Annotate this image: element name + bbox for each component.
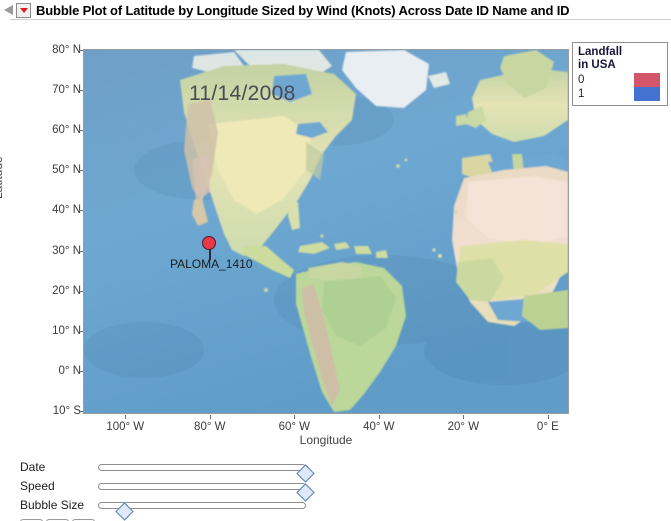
x-axis-tick-mark [294, 415, 295, 419]
marker-dot [202, 236, 216, 250]
x-axis-tick-mark [548, 415, 549, 419]
legend-swatch-0[interactable] [634, 73, 660, 87]
slider-bubble-size[interactable] [98, 502, 306, 509]
y-axis-tick-label: 0° N [23, 365, 81, 377]
x-axis-tick-label: 60° W [279, 421, 310, 433]
y-axis-tick-label: 10° N [23, 325, 81, 337]
y-axis-tick-label: 70° N [23, 84, 81, 96]
x-axis-tick-mark [463, 415, 464, 419]
bubble-plot-window: Bubble Plot of Latitude by Longitude Siz… [0, 0, 671, 521]
plot-area[interactable]: 11/14/2008 [83, 49, 569, 414]
slider-label: Speed [20, 479, 55, 493]
slider-label: Bubble Size [20, 498, 84, 512]
x-axis-tick-label: 80° W [194, 421, 225, 433]
x-axis-title: Longitude [83, 433, 569, 447]
legend-swatches [634, 73, 660, 101]
y-axis-tick-label: 80° N [23, 44, 81, 56]
x-axis-tick-label: 40° W [363, 421, 394, 433]
data-point-label: PALOMA_1410 [170, 257, 253, 271]
legend-swatch-1[interactable] [634, 87, 660, 101]
slider-thumb[interactable] [296, 483, 314, 501]
y-axis-tick-label: 40° N [23, 204, 81, 216]
y-axis-tick-label: 60° N [23, 124, 81, 136]
y-axis-tick-label: 30° N [23, 245, 81, 257]
slider-speed[interactable] [98, 483, 306, 490]
legend-title-line2: in USA [578, 59, 662, 72]
legend[interactable]: Landfall in USA 0 1 [572, 42, 668, 106]
disclosure-triangle-icon[interactable] [4, 5, 13, 15]
window-titlebar: Bubble Plot of Latitude by Longitude Siz… [0, 0, 671, 20]
x-axis-tick-label: 20° W [448, 421, 479, 433]
slider-date[interactable] [98, 464, 306, 471]
report-panel: Latitude 80° N70° N60° N50° N40° N30° N2… [10, 21, 670, 521]
x-axis-tick-mark [125, 415, 126, 419]
x-axis-tick-label: 0° E [537, 421, 559, 433]
title-divider [10, 19, 671, 20]
y-axis-tick-label: 20° N [23, 285, 81, 297]
page-title: Bubble Plot of Latitude by Longitude Siz… [36, 3, 569, 18]
x-axis-tick-mark [210, 415, 211, 419]
y-axis-tick-label: 50° N [23, 164, 81, 176]
y-axis-tick-label: 10° S [23, 405, 81, 417]
x-axis-tick-label: 100° W [106, 421, 144, 433]
y-axis-title: Latitude [0, 156, 5, 199]
y-axis-ticks: 80° N70° N60° N50° N40° N30° N20° N10° N… [19, 49, 81, 414]
x-axis-ticks: 100° W80° W60° W40° W20° W0° E [83, 415, 569, 435]
slider-label: Date [20, 460, 45, 474]
slider-thumb[interactable] [115, 502, 133, 520]
x-axis-tick-mark [379, 415, 380, 419]
slider-thumb[interactable] [296, 464, 314, 482]
world-terrain-map [84, 50, 568, 413]
legend-title-line1: Landfall [578, 46, 662, 59]
red-dropdown-triangle-icon[interactable] [16, 3, 31, 18]
